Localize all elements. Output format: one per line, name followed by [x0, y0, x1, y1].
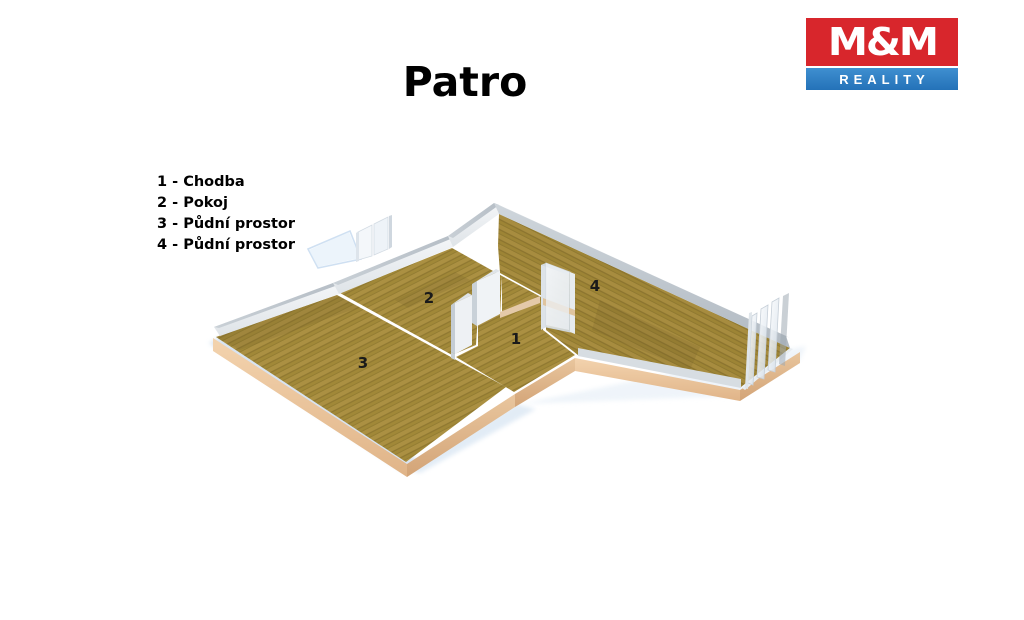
partition-stub-side [451, 303, 455, 354]
dormer-sash-left [358, 225, 372, 260]
dormer-frame-post-right [389, 215, 392, 249]
dormer-frame-post-left [356, 231, 359, 262]
room-label-3: 3 [358, 354, 368, 372]
partition-2-1-side [472, 281, 477, 326]
wall-room2-right-top [448, 203, 499, 238]
room-label-1: 1 [511, 330, 521, 348]
door-leaf-room4-face [546, 263, 569, 330]
floorplan-3d-render: 3 2 1 4 [0, 0, 1024, 620]
partition-1-4-jamb-right [570, 272, 575, 334]
partition-stub-face [455, 295, 472, 354]
room-label-2: 2 [424, 289, 434, 307]
dormer-sash-right [374, 217, 388, 255]
room-label-4: 4 [590, 277, 600, 295]
partition-1-4-frame-face [541, 263, 546, 330]
dormer-window-group [308, 215, 392, 268]
